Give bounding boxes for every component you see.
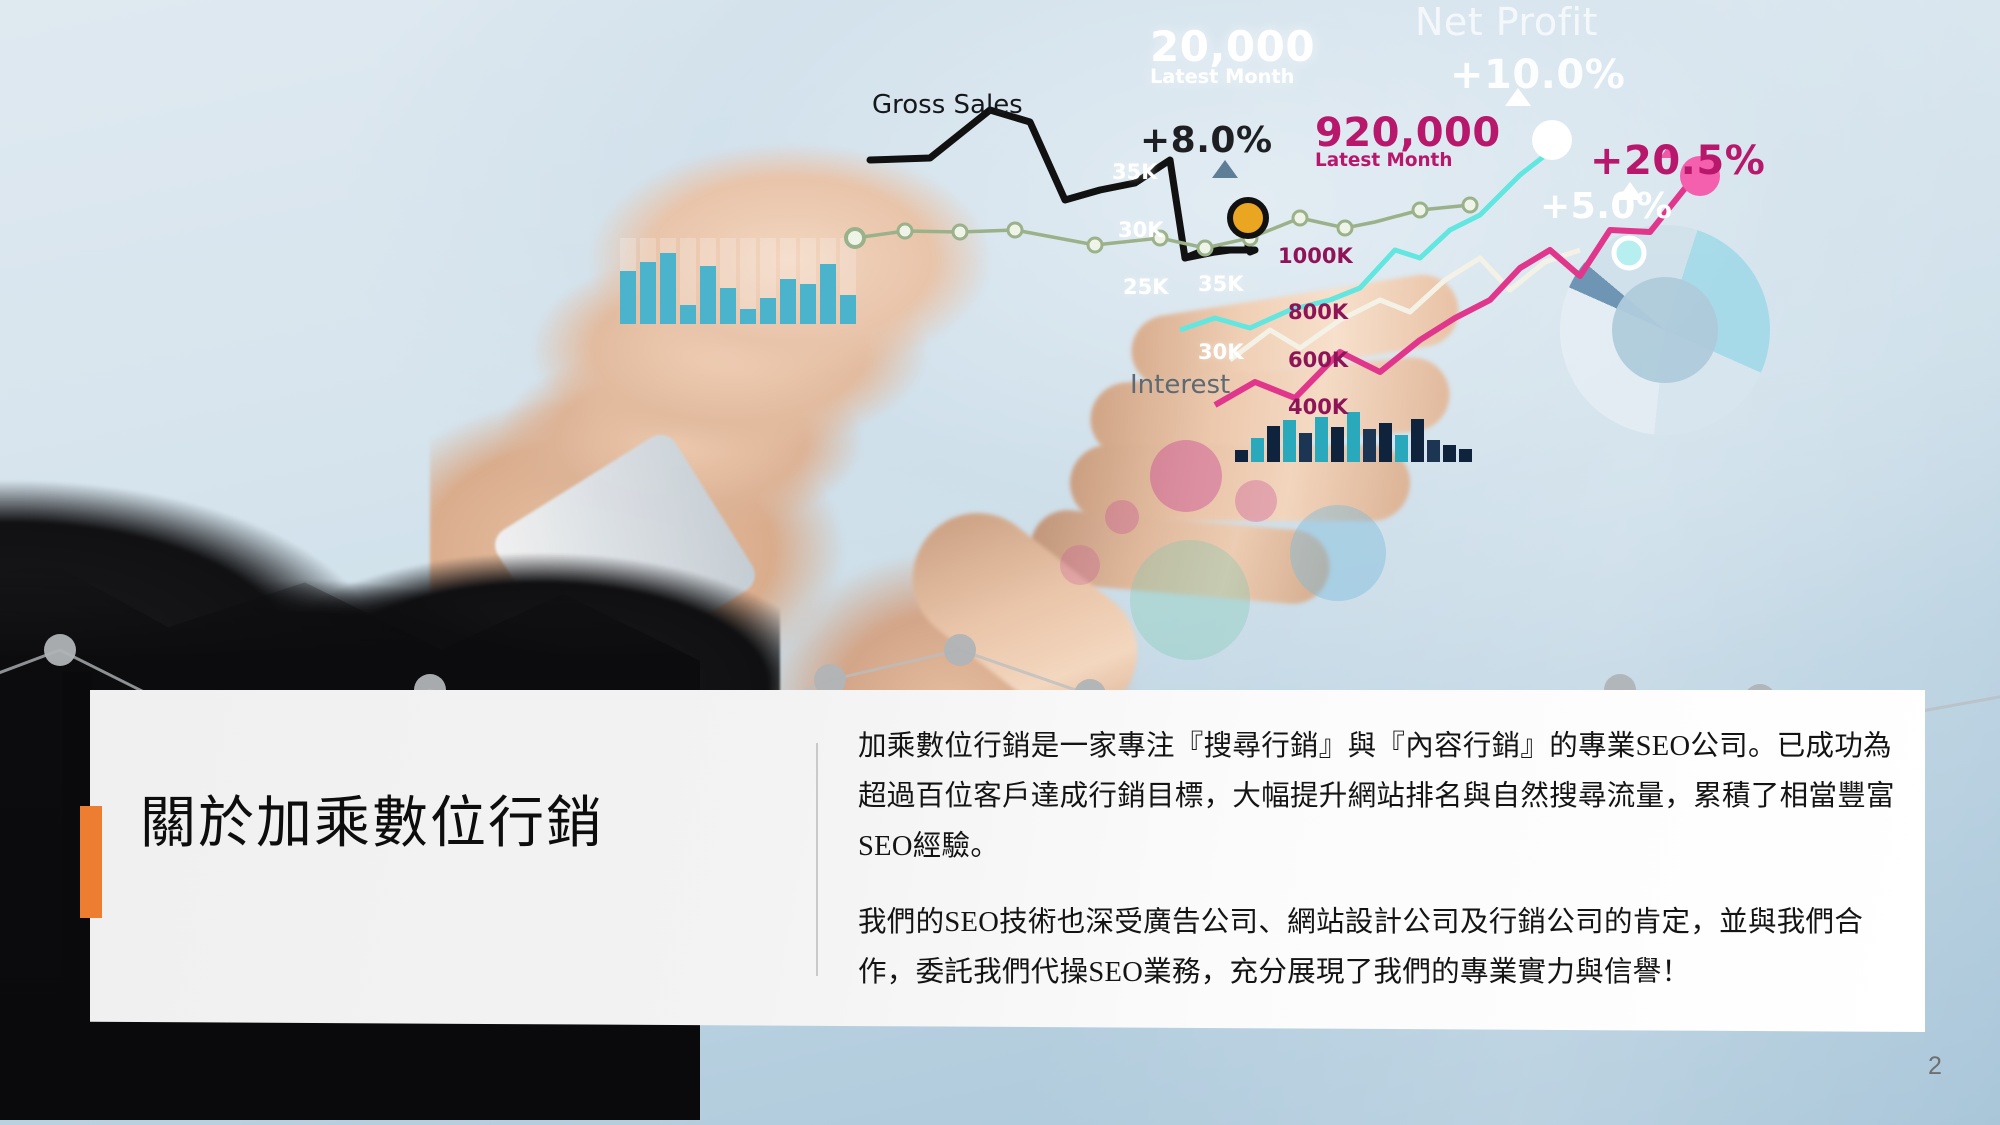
axis-tick-30k-b: 30K [1198,340,1244,364]
page-number: 2 [1928,1052,1942,1081]
axis-tick-1000k: 1000K [1278,244,1353,268]
analytics-chart-overlay: 20,000 Latest Month +8.0% Net Profit +10… [0,0,2000,560]
kpi-change-50: +5.0% [1540,186,1673,227]
kpi-caption: Latest Month [1150,65,1315,88]
kpi-net-profit-change: +10.0% [1450,52,1625,98]
kpi-gross-sales-value: 20,000 Latest Month [1150,22,1315,88]
net-profit-label: Net Profit [1415,0,1598,44]
axis-tick-800k: 800K [1288,300,1348,324]
marker-green-left [846,229,864,247]
line-series-svg [0,0,2000,560]
body-text: 加乘數位行銷是一家專注『搜尋行銷』與『內容行銷』的專業SEO公司。已成功為超過百… [858,722,1908,998]
kpi-change-205: +20.5% [1590,138,1765,184]
marker-orange [1230,200,1266,236]
interest-label: Interest [1130,370,1230,400]
vertical-divider [816,743,818,976]
axis-tick-400k: 400K [1288,395,1348,419]
kpi-net-profit-value: 920,000 Latest Month [1315,110,1501,171]
axis-tick-30k-a: 30K [1118,218,1164,242]
marker-cyan-small [1614,238,1644,268]
axis-tick-600k: 600K [1288,348,1348,372]
axis-tick-35k-b: 35K [1198,272,1244,296]
paragraph-1: 加乘數位行銷是一家專注『搜尋行銷』與『內容行銷』的專業SEO公司。已成功為超過百… [858,722,1908,872]
marker-white-cyan [1532,120,1572,160]
gross-sales-label: Gross Sales [872,90,1023,120]
slide: 20,000 Latest Month +8.0% Net Profit +10… [0,0,2000,1125]
trend-up-triangle-blue [1212,160,1238,178]
page-title: 關於加乘數位行銷 [140,778,740,859]
paragraph-2: 我們的SEO技術也深受廣告公司、網站設計公司及行銷公司的肯定，並與我們合作，委託… [858,898,1908,998]
axis-tick-25k-a: 25K [1123,275,1169,299]
orange-accent-bar [80,806,102,918]
axis-tick-35k-a: 35K [1112,160,1158,184]
kpi-gross-sales-change: +8.0% [1140,120,1273,161]
